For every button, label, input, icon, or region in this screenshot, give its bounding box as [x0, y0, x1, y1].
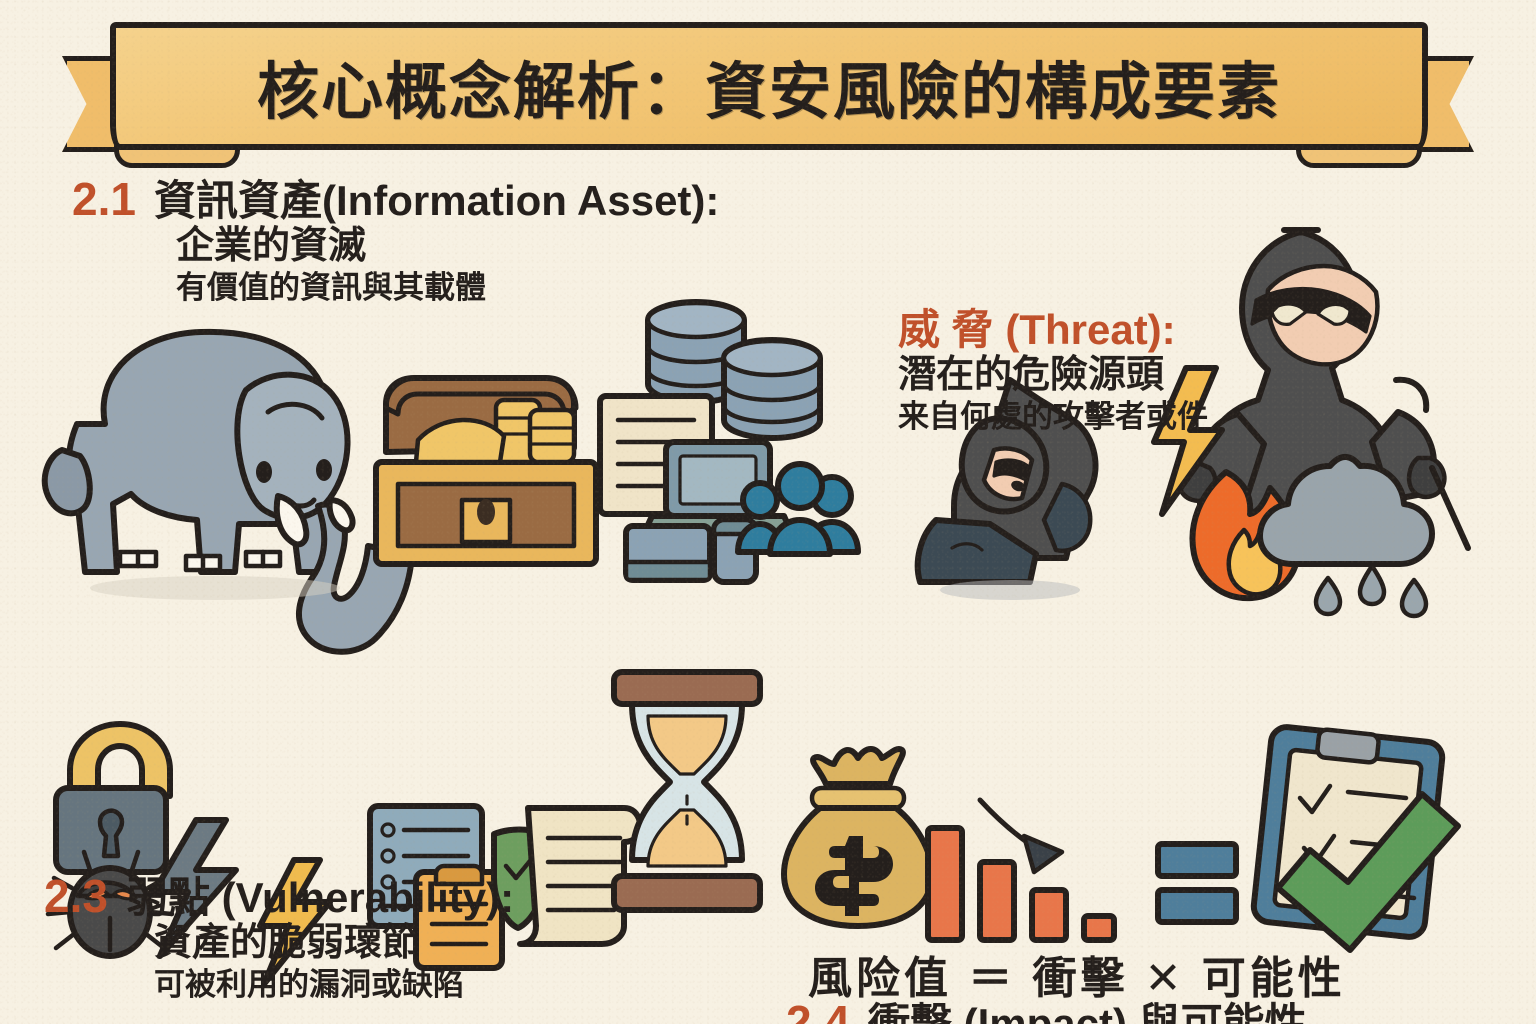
section-vulnerability: 2.3 弱點 (Vulnerability): 資產的脆弱瓌節 可被利用的漏洞或…: [44, 873, 784, 1003]
section-title-asset: 資訊資產(Information Asset):: [154, 177, 719, 224]
section-information-asset: 2.1 資訊資產(Information Asset): 企業的資滅 有價值的資…: [72, 176, 872, 306]
section-impact-likelihood: 2.4 衝擊 (Impact) 與可能性 (Likelihood)： 量化风险的…: [786, 999, 1506, 1024]
section-asset-headline: 2.1 資訊資產(Information Asset):: [72, 176, 872, 224]
equals-sign-icon: [1158, 844, 1236, 922]
section-title-vulnerability: 弱點 (Vulnerability):: [126, 874, 514, 921]
section-threat-headline: 威 脅 (Threat):: [898, 306, 1498, 353]
section-threat-description: 来自何處的攻擊者或件: [898, 398, 1498, 435]
section-asset-description: 有價值的資訊與其載體: [176, 269, 872, 306]
section-threat: 威 脅 (Threat): 潛在的危險源頭 来自何處的攻擊者或件: [898, 306, 1498, 435]
section-title-impact: 衝擊 (Impact) 與可能性: [868, 1000, 1307, 1024]
title-banner: 核心概念解析：資安風險的構成要素: [62, 22, 1474, 168]
section-vuln-subtitle: 資產的脆弱瓌節: [154, 921, 784, 966]
section-number-2-1: 2.1: [72, 176, 136, 222]
padlock-icon: [56, 724, 170, 872]
elephant-icon: [45, 332, 412, 652]
declining-bar-chart-icon: [928, 828, 1114, 940]
section-impact-headline: 2.4 衝擊 (Impact) 與可能性: [786, 999, 1506, 1024]
section-number-2-4: 2.4: [786, 999, 850, 1024]
section-title-threat: 威 脅 (Threat):: [898, 306, 1176, 353]
treasure-chest-icon: [376, 378, 596, 564]
section-vuln-description: 可被利用的漏洞或缺陷: [154, 966, 784, 1003]
section-vuln-headline: 2.3 弱點 (Vulnerability):: [44, 873, 784, 921]
section-asset-subtitle: 企業的資滅: [176, 224, 872, 269]
risk-formula: 風险值 ＝ 衝擊 ✕ 可能性: [808, 942, 1346, 1006]
tablet-icon: [626, 526, 710, 580]
section-threat-subtitle: 潛在的危險源頭: [898, 353, 1498, 398]
banner-body: 核心概念解析：資安風險的構成要素: [110, 22, 1428, 150]
database-cylinder-icon-2: [724, 340, 820, 438]
money-bag-icon: [784, 749, 932, 926]
page-title: 核心概念解析：資安風險的構成要素: [257, 41, 1281, 131]
section-number-2-3: 2.3: [44, 873, 108, 919]
